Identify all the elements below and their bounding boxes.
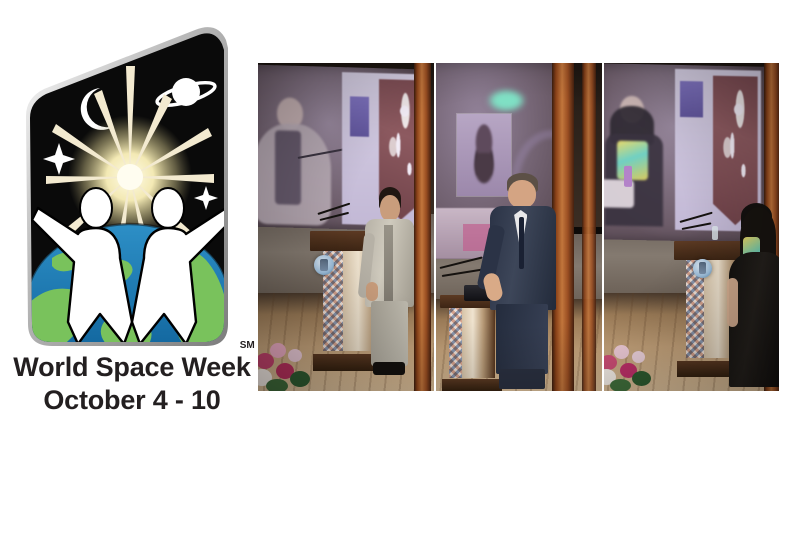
speaker-center xyxy=(486,173,560,391)
projected-scarf xyxy=(617,141,648,180)
flower-arrangement xyxy=(602,339,656,391)
logo-wordmark: World Space Week SM October 4 - 10 xyxy=(8,352,256,417)
flower-arrangement xyxy=(258,335,316,391)
panel-center xyxy=(434,63,602,391)
logo-title-line-2: October 4 - 10 xyxy=(8,384,256,416)
panel-left xyxy=(258,63,434,391)
logo-svg xyxy=(8,22,256,352)
water-bottle xyxy=(712,226,718,240)
service-mark-symbol: SM xyxy=(240,340,255,351)
world-space-week-logo: World Space Week SM October 4 - 10 xyxy=(8,22,256,422)
speaker-right xyxy=(728,203,779,391)
logo-title-line-1: World Space Week xyxy=(13,352,250,382)
panel-right xyxy=(602,63,779,391)
podium-emblem xyxy=(693,259,712,278)
wooden-column xyxy=(582,63,596,391)
conference-photo xyxy=(258,63,779,391)
page-root: World Space Week SM October 4 - 10 xyxy=(0,0,800,536)
speaker-left xyxy=(362,187,418,377)
logo-badge-artwork xyxy=(8,22,256,352)
screen-glare xyxy=(484,87,529,114)
